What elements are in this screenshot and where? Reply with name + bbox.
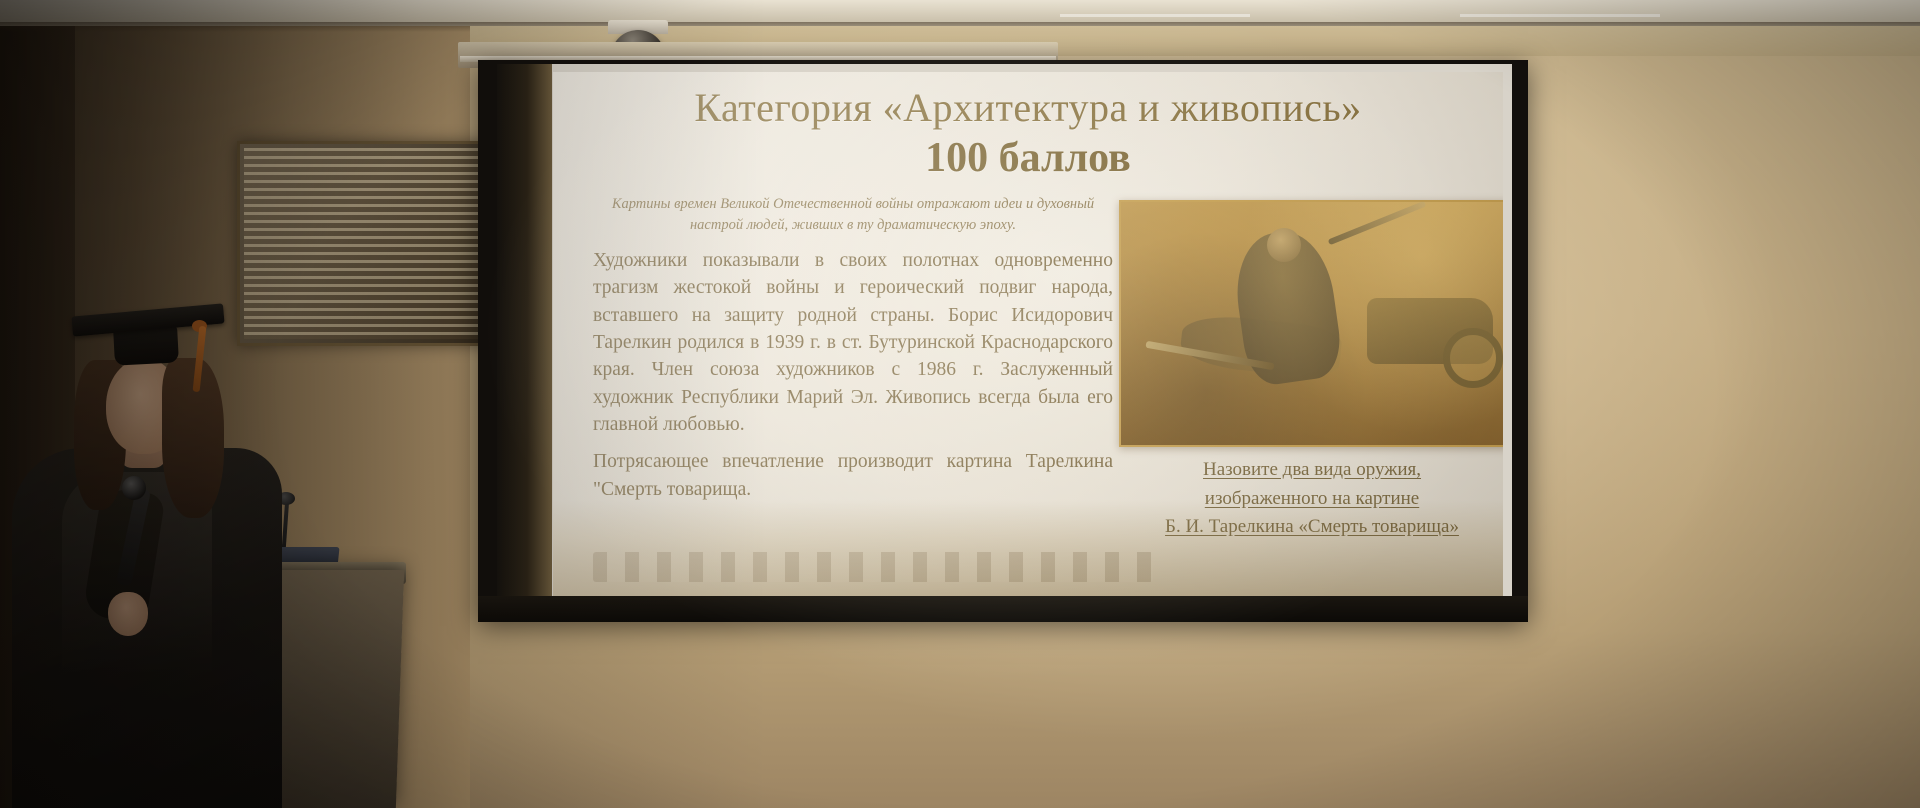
question-line-2: изображенного на картине [1205, 488, 1419, 509]
presenter [10, 300, 310, 808]
lecture-room: Категория «Архитектура и живопись» 100 б… [0, 0, 1920, 808]
presenter-hand [108, 592, 148, 636]
ceiling-seam-right [1460, 14, 1660, 17]
slide-title: Категория «Архитектура и живопись» [553, 86, 1503, 131]
slide-intro-text: Картины времен Великой Отечественной вой… [593, 194, 1113, 235]
slide-paragraph-2: Потрясающее впечатление производит карти… [593, 448, 1113, 503]
screen-left-shadow [497, 64, 552, 616]
ceiling-seam-left [1060, 14, 1250, 17]
question-line-1: Назовите два вида оружия, [1203, 459, 1421, 480]
slide-artwork-image [1119, 200, 1503, 447]
screen-bottom-border [478, 596, 1528, 622]
presentation-slide: Категория «Архитектура и живопись» 100 б… [553, 72, 1503, 596]
slide-points: 100 баллов [553, 134, 1503, 182]
slide-text-column: Картины времен Великой Отечественной вой… [593, 194, 1113, 513]
slide-paragraph-1: Художники показывали в своих полотнах од… [593, 247, 1113, 438]
handheld-microphone-head [122, 476, 146, 500]
filmstrip-perforations [593, 552, 1153, 582]
slide-question-block: Назовите два вида оружия, изображенного … [1119, 456, 1503, 542]
artwork-color-haze [1121, 202, 1503, 445]
question-line-3: Б. И. Тарелкина «Смерть товарища» [1165, 516, 1459, 537]
